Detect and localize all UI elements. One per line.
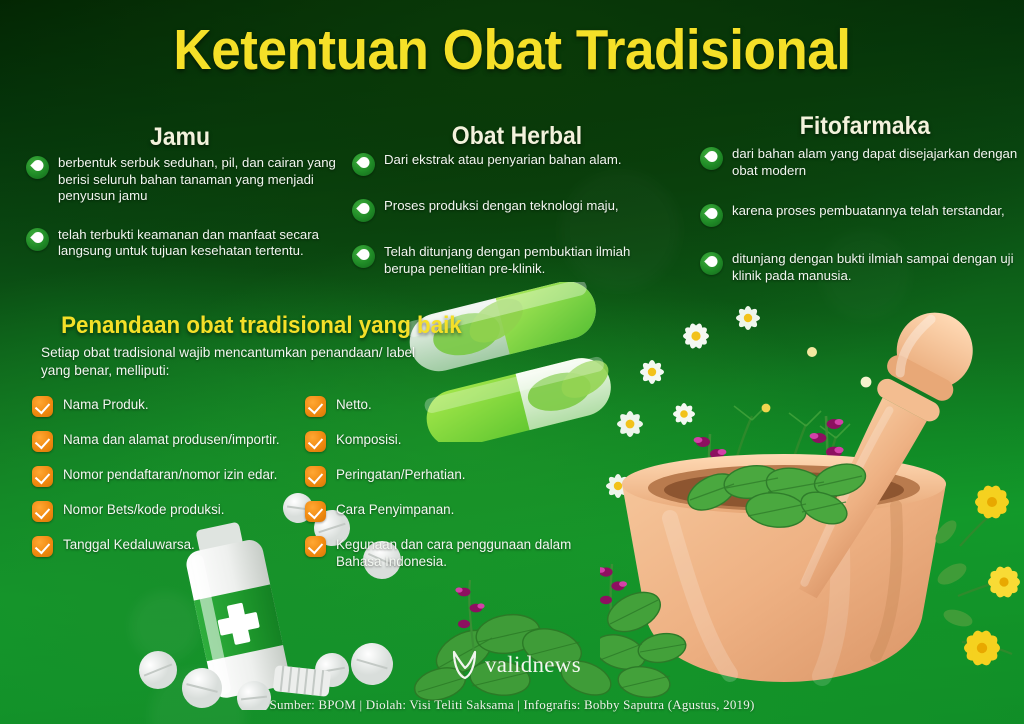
bullet-list-jamu: berbentuk serbuk seduhan, pil, dan caira… <box>26 155 338 275</box>
droplet-icon <box>352 199 375 222</box>
checklist-text: Netto. <box>336 396 372 417</box>
bullet-text: Telah ditunjang dengan pembuktian ilmiah… <box>384 244 672 277</box>
bullet-item: Telah ditunjang dengan pembuktian ilmiah… <box>352 244 672 277</box>
checklist-item: Peringatan/Perhatian. <box>305 466 585 487</box>
checklist-item: Cara Penyimpanan. <box>305 501 585 522</box>
blister-strip <box>273 665 331 697</box>
droplet-icon <box>26 156 49 179</box>
green-leaves <box>682 459 869 530</box>
bullet-item: karena proses pembuatannya telah terstan… <box>700 203 1018 227</box>
cross-icon <box>215 600 262 647</box>
page-title: Ketentuan Obat Tradisional <box>36 22 988 79</box>
check-icon <box>305 501 326 522</box>
droplet-icon <box>352 245 375 268</box>
droplet-icon <box>352 153 375 176</box>
droplet-icon <box>26 228 49 251</box>
check-icon <box>305 466 326 487</box>
column-heading-obat-herbal: Obat Herbal <box>402 122 632 151</box>
checklist-item: Nomor Bets/kode produksi. <box>32 501 302 522</box>
bullet-item: Dari ekstrak atau penyarian bahan alam. <box>352 152 672 176</box>
checklist-text: Komposisi. <box>336 431 402 452</box>
chamomile-flowers <box>606 306 871 498</box>
purple-sage-flowers <box>600 416 844 626</box>
bokeh-circle <box>130 592 200 662</box>
infographic-poster: Ketentuan Obat Tradisional Jamu berbentu… <box>0 0 1024 724</box>
bullet-text: ditunjang dengan bukti ilmiah sampai den… <box>732 251 1018 284</box>
check-icon <box>32 431 53 452</box>
bullet-list-fitofarmaka: dari bahan alam yang dapat disejajarkan … <box>700 146 1018 299</box>
bullet-item: ditunjang dengan bukti ilmiah sampai den… <box>700 251 1018 284</box>
checklist-item: Tanggal Kedaluwarsa. <box>32 536 302 557</box>
check-icon <box>305 396 326 417</box>
bullet-item: Proses produksi dengan teknologi maju, <box>352 198 672 222</box>
bullet-text: Dari ekstrak atau penyarian bahan alam. <box>384 152 622 176</box>
checklist-text: Nomor Bets/kode produksi. <box>63 501 225 522</box>
purple-sage-small <box>455 580 484 652</box>
checklist-text: Kegunaan dan cara penggunaan dalam Bahas… <box>336 536 585 570</box>
bullet-text: berbentuk serbuk seduhan, pil, dan caira… <box>58 155 338 205</box>
checklist-item: Nomor pendaftaran/nomor izin edar. <box>32 466 302 487</box>
bullet-item: telah terbukti keamanan dan manfaat seca… <box>26 227 338 260</box>
penandaan-heading: Penandaan obat tradisional yang baik <box>61 312 462 340</box>
checklist-right: Netto. Komposisi. Peringatan/Perhatian. … <box>305 396 585 584</box>
checklist-left: Nama Produk. Nama dan alamat produsen/im… <box>32 396 302 571</box>
checklist-text: Nama dan alamat produsen/importir. <box>63 431 280 452</box>
bullet-item: dari bahan alam yang dapat disejajarkan … <box>700 146 1018 179</box>
bullet-text: karena proses pembuatannya telah terstan… <box>732 203 1005 227</box>
bullet-list-obat-herbal: Dari ekstrak atau penyarian bahan alam. … <box>352 152 672 292</box>
bullet-text: Proses produksi dengan teknologi maju, <box>384 198 619 222</box>
mortar-bowl <box>622 454 946 682</box>
pestle <box>773 299 987 610</box>
check-icon <box>305 536 326 557</box>
checklist-item: Kegunaan dan cara penggunaan dalam Bahas… <box>305 536 585 570</box>
check-icon <box>305 431 326 452</box>
logo-name: validnews <box>485 652 581 678</box>
check-icon <box>32 536 53 557</box>
basil-leaves <box>600 584 688 700</box>
check-icon <box>32 501 53 522</box>
footer-credit: Sumber: BPOM | Diolah: Visi Teliti Saksa… <box>0 697 1024 713</box>
checklist-text: Nomor pendaftaran/nomor izin edar. <box>63 466 277 487</box>
checklist-item: Nama dan alamat produsen/importir. <box>32 431 302 452</box>
checklist-item: Nama Produk. <box>32 396 302 417</box>
bokeh-circle <box>150 668 246 724</box>
droplet-icon <box>700 147 723 170</box>
checklist-item: Netto. <box>305 396 585 417</box>
mortar-and-pestle-illustration <box>600 296 1024 700</box>
check-icon <box>32 396 53 417</box>
checklist-text: Tanggal Kedaluwarsa. <box>63 536 195 557</box>
v-mark-icon <box>452 650 478 680</box>
checklist-text: Nama Produk. <box>63 396 149 417</box>
droplet-icon <box>700 252 723 275</box>
droplet-icon <box>700 204 723 227</box>
bullet-text: dari bahan alam yang dapat disejajarkan … <box>732 146 1018 179</box>
validnews-logo: validnews <box>452 650 581 680</box>
penandaan-subtitle: Setiap obat tradisional wajib mencantumk… <box>41 344 431 380</box>
check-icon <box>32 466 53 487</box>
column-heading-jamu: Jamu <box>97 123 263 152</box>
checklist-text: Peringatan/Perhatian. <box>336 466 466 487</box>
yellow-flowers <box>932 483 1022 667</box>
bullet-item: berbentuk serbuk seduhan, pil, dan caira… <box>26 155 338 205</box>
checklist-text: Cara Penyimpanan. <box>336 501 454 522</box>
column-heading-fitofarmaka: Fitofarmaka <box>750 112 980 141</box>
bullet-text: telah terbukti keamanan dan manfaat seca… <box>58 227 338 260</box>
checklist-item: Komposisi. <box>305 431 585 452</box>
